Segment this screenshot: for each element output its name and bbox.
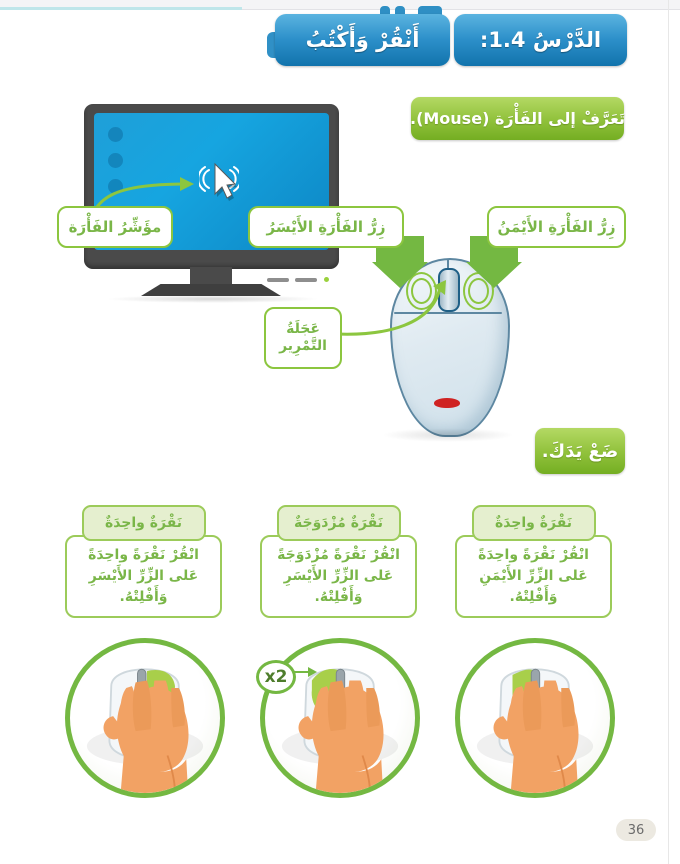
monitor-shadow (106, 295, 320, 303)
screen-dot-icon (108, 153, 123, 168)
monitor-control-strip (267, 278, 289, 282)
lesson-title-label: أَنْقُرْ وَأَكْتُبُ (275, 14, 450, 66)
instruction-card-title: نَقْرَةٌ مُزْدَوَجَةٌ (277, 505, 401, 541)
callout-scroll-wheel-line1: عَجَلَةُ (286, 321, 320, 339)
hand-figure-circle (65, 638, 225, 798)
top-accent-bar (0, 7, 242, 10)
instruction-card-text: انْقُرْ نَقْرَةً واحِدَةً عَلى الزِّرِّ … (455, 535, 612, 618)
instruction-card: نَقْرَةٌ واحِدَةٌ انْقُرْ نَقْرَةً واحِد… (455, 505, 612, 618)
monitor-illustration (84, 104, 339, 289)
callout-mouse-pointer: مؤَشِّرُ الفَأْرَة (57, 206, 173, 248)
instruction-card-title: نَقْرَةٌ واحِدَةٌ (82, 505, 206, 541)
hand-on-mouse-illustration (70, 643, 220, 793)
hand-figure-double-click: x2 (260, 638, 420, 798)
screen-dot-icon (108, 127, 123, 142)
hand-figure-circle (455, 638, 615, 798)
page-right-rule (668, 0, 669, 864)
mouse-pointer-icon (199, 158, 239, 206)
lesson-number-label: الدَّرْسُ 1.4: (454, 14, 627, 66)
hand-figure-left-click (65, 638, 225, 798)
callout-scroll-wheel: عَجَلَةُ التَّمْرِير (264, 307, 342, 369)
screen-dot-icon (108, 179, 123, 194)
lesson-header-banner: الدَّرْسُ 1.4: أَنْقُرْ وَأَكْتُبُ (275, 6, 630, 70)
monitor-power-led-icon (324, 277, 329, 282)
monitor-control-strip (295, 278, 317, 282)
x2-pointer-arrow-icon (294, 664, 318, 680)
instruction-card: نَقْرَةٌ واحِدَةٌ انْقُرْ نَقْرَةً واحِد… (65, 505, 222, 618)
textbook-page: الدَّرْسُ 1.4: أَنْقُرْ وَأَكْتُبُ تَعَر… (0, 0, 680, 864)
hand-on-mouse-illustration (460, 643, 610, 793)
instruction-card-text: انْقُرْ نَقْرَةً مُزْدَوَجَةً عَلى الزِّ… (260, 535, 417, 618)
callout-right-mouse-button: زِرُّ الفَأْرَةِ الأَيْمَنُ (487, 206, 626, 248)
callout-left-mouse-button: زِرُّ الفَأْرَةِ الأَيْسَرُ (248, 206, 404, 248)
instruction-card-text: انْقُرْ نَقْرَةً واحِدَةً عَلى الزِّرِّ … (65, 535, 222, 618)
intro-mouse-button[interactable]: تَعَرَّفْ إلى الفَأْرَة (Mouse). (411, 97, 624, 140)
page-number: 36 (616, 819, 656, 841)
hand-figure-right-click (455, 638, 615, 798)
place-hand-button[interactable]: ضَعْ يَدَكَ. (535, 428, 625, 474)
instruction-card-title: نَقْرَةٌ واحِدَةٌ (472, 505, 596, 541)
double-click-badge: x2 (256, 660, 296, 694)
instruction-card: نَقْرَةٌ مُزْدَوَجَةٌ انْقُرْ نَقْرَةً م… (260, 505, 417, 618)
callout-scroll-wheel-line2: التَّمْرِير (279, 338, 327, 356)
mouse-led-indicator (434, 398, 460, 408)
mouse-scroll-wheel (438, 268, 460, 312)
mouse-shadow (382, 428, 514, 442)
